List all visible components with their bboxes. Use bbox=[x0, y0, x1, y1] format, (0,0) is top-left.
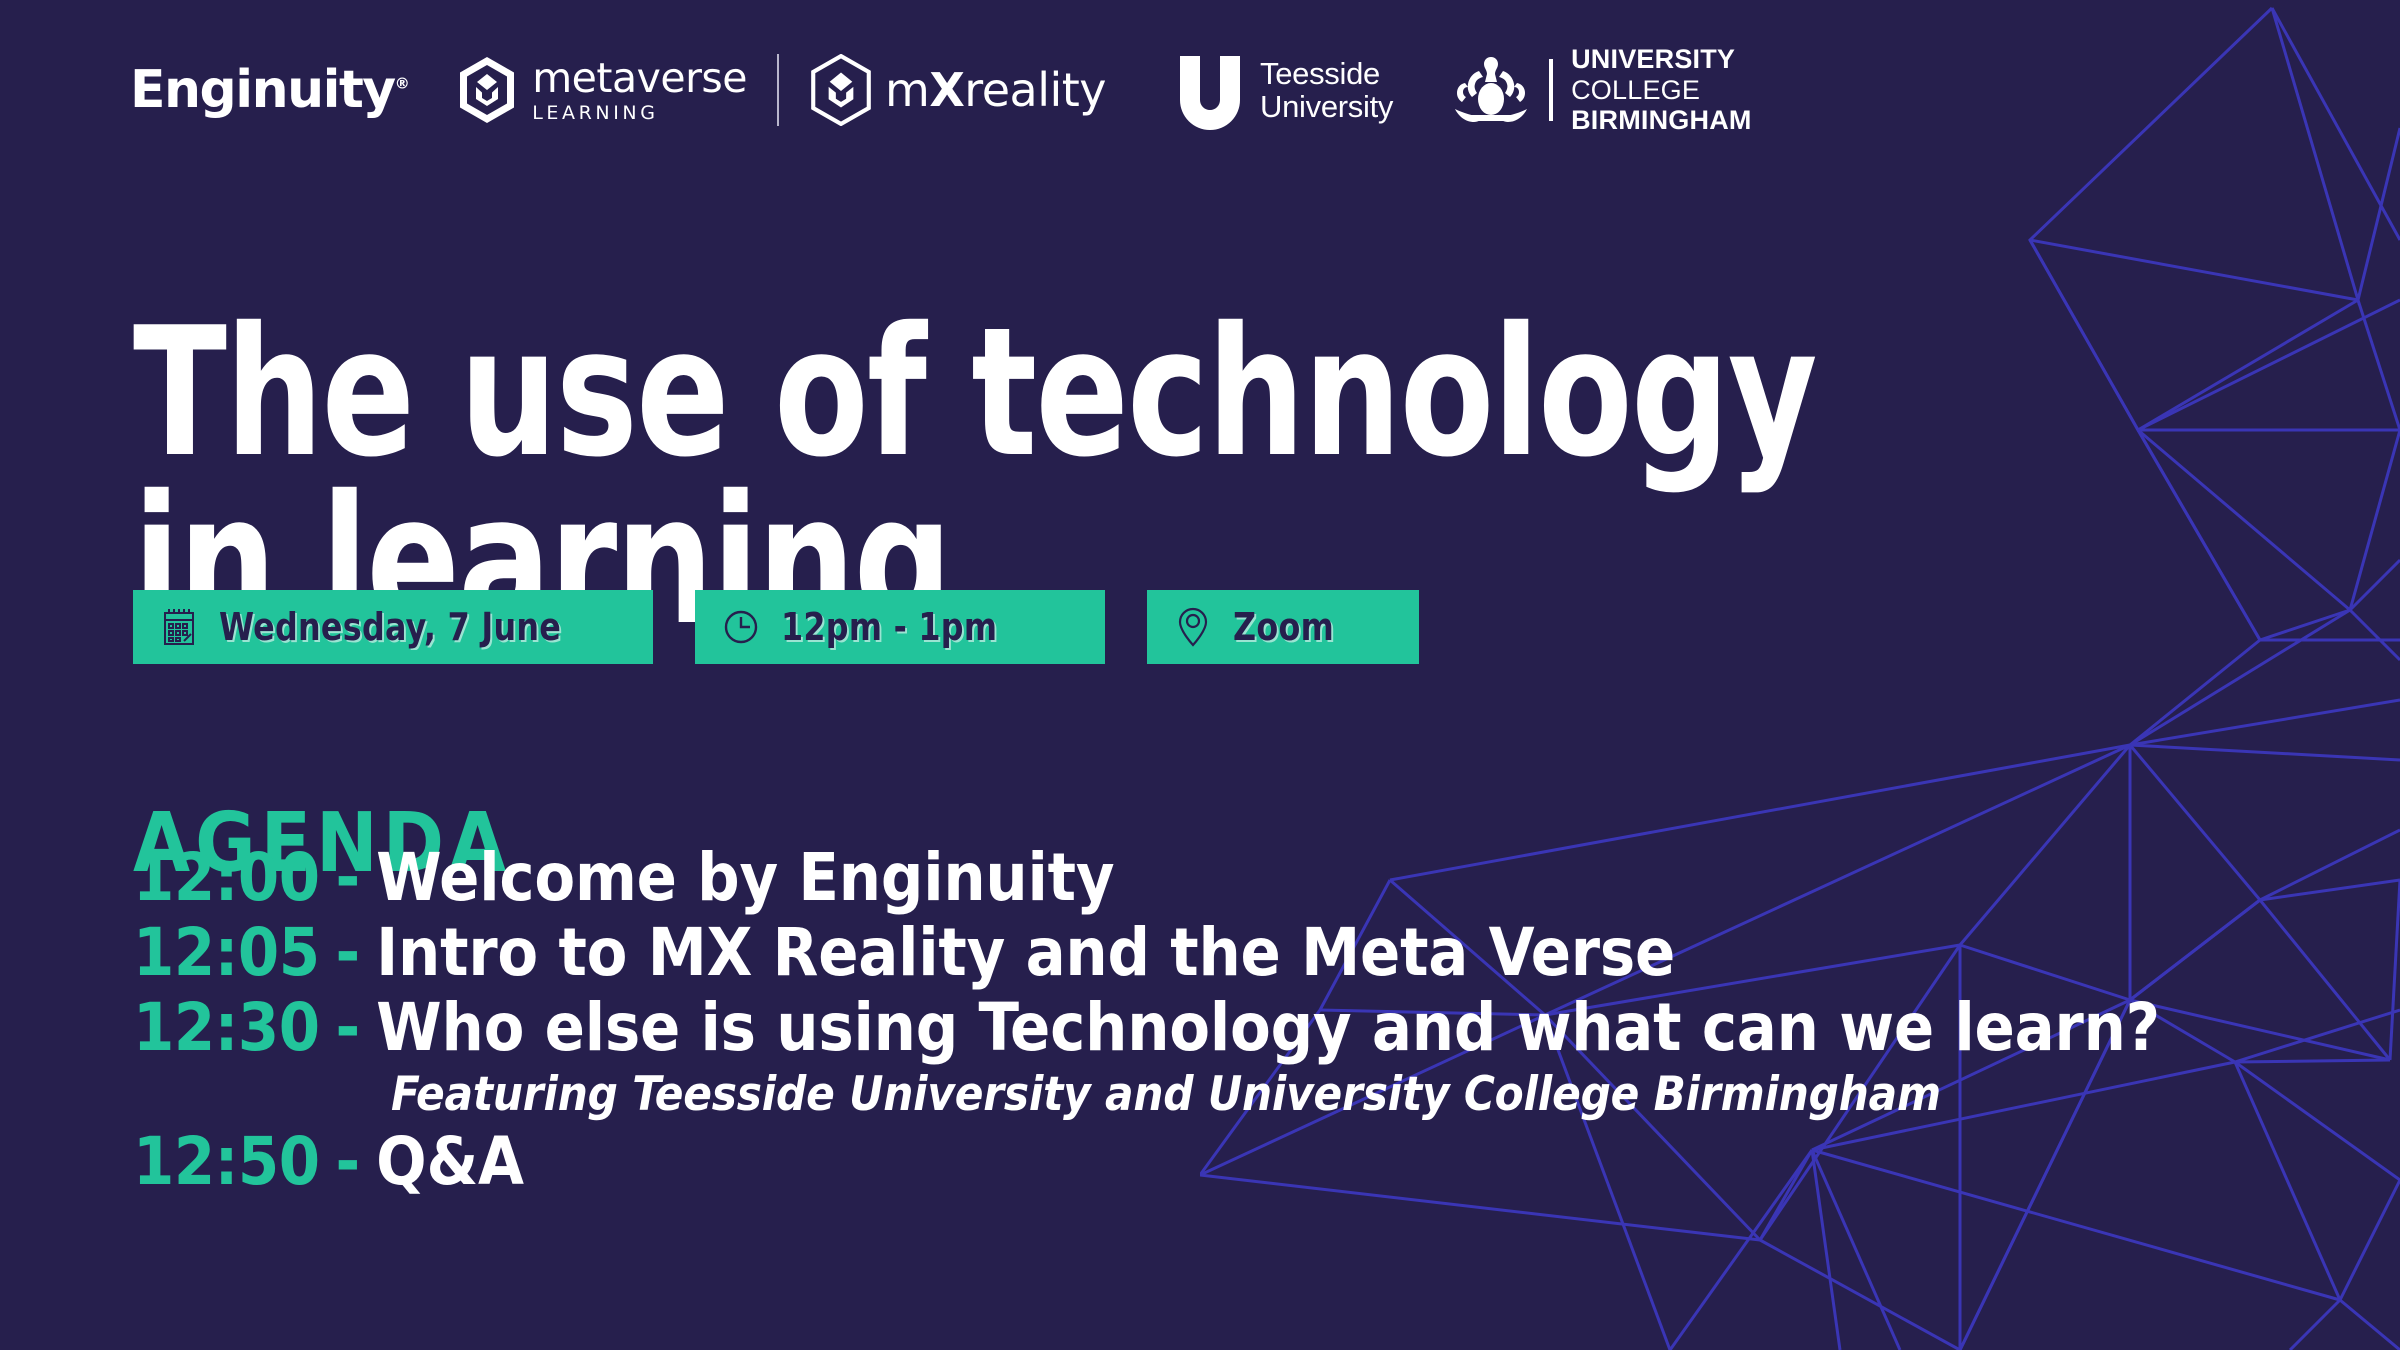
logo-divider bbox=[777, 54, 779, 126]
agenda-item-time: 12:00 bbox=[133, 840, 320, 915]
logo-metaverse-learning: metaverse LEARNING bbox=[456, 42, 747, 138]
agenda-item: 12:05 - Intro to MX Reality and the Meta… bbox=[133, 915, 2160, 990]
metaverse-wordmark: metaverse bbox=[532, 58, 747, 99]
badge-time-label: 12pm - 1pm bbox=[781, 605, 997, 649]
agenda-item-separator: - bbox=[336, 840, 361, 915]
metaverse-hex-icon bbox=[456, 55, 518, 125]
agenda-item: 12:50 - Q&A bbox=[133, 1124, 2160, 1199]
agenda-item-title: Intro to MX Reality and the Meta Verse bbox=[376, 915, 1675, 990]
mxreality-wordmark-b: reality bbox=[964, 63, 1106, 117]
ucb-line-3: BIRMINGHAM bbox=[1571, 105, 1751, 136]
teesside-wordmark: Teesside University bbox=[1260, 57, 1393, 124]
badge-location-label: Zoom bbox=[1233, 605, 1334, 649]
webinar-promo-poster: Enginuity® metaverse LEARNING mXrea bbox=[0, 0, 2400, 1350]
badge-date: Wednesday, 7 June bbox=[133, 590, 653, 664]
teesside-line-1: Teesside bbox=[1260, 57, 1393, 90]
agenda-item-title: Welcome by Enginuity bbox=[376, 840, 1114, 915]
badge-date-label: Wednesday, 7 June bbox=[219, 605, 561, 649]
location-pin-icon bbox=[1173, 604, 1213, 650]
event-detail-badges: Wednesday, 7 June 12pm - 1pm bbox=[133, 590, 1419, 664]
registered-mark-icon: ® bbox=[395, 75, 409, 93]
agenda-item-title: Q&A bbox=[376, 1124, 524, 1199]
ucb-line-1: UNIVERSITY bbox=[1571, 44, 1751, 75]
agenda-item-time: 12:05 bbox=[133, 915, 320, 990]
teesside-line-2: University bbox=[1260, 90, 1393, 123]
mxreality-wordmark-x: X bbox=[929, 63, 964, 117]
page-title-line-1: The use of technology bbox=[133, 309, 1698, 476]
clock-icon bbox=[721, 604, 761, 650]
badge-location: Zoom bbox=[1147, 590, 1419, 664]
logo-teesside-university: Teesside University bbox=[1174, 50, 1393, 130]
ucb-crest-icon bbox=[1447, 51, 1535, 129]
enginuity-wordmark-text: Enginuity bbox=[130, 60, 395, 120]
agenda-item-time: 12:50 bbox=[133, 1124, 320, 1199]
calendar-icon bbox=[159, 604, 199, 650]
agenda-item-time: 12:30 bbox=[133, 990, 320, 1065]
ucb-wordmark: UNIVERSITY COLLEGE BIRMINGHAM bbox=[1571, 44, 1751, 136]
logo-mxreality: mXreality bbox=[809, 42, 1106, 138]
agenda-item: 12:00 - Welcome by Enginuity bbox=[133, 840, 2160, 915]
agenda-item-separator: - bbox=[336, 990, 361, 1065]
logo-enginuity: Enginuity® bbox=[130, 42, 456, 138]
teesside-u-icon bbox=[1174, 50, 1246, 130]
agenda-item-separator: - bbox=[336, 915, 361, 990]
agenda-item-title: Who else is using Technology and what ca… bbox=[376, 990, 2160, 1065]
agenda-item-separator: - bbox=[336, 1124, 361, 1199]
ucb-line-2: COLLEGE bbox=[1571, 75, 1751, 106]
mxreality-wordmark-a: m bbox=[885, 63, 929, 117]
partner-logo-bar: Enginuity® metaverse LEARNING mXrea bbox=[130, 42, 1752, 138]
agenda-list: 12:00 - Welcome by Enginuity 12:05 - Int… bbox=[133, 840, 2160, 1200]
badge-time: 12pm - 1pm bbox=[695, 590, 1105, 664]
metaverse-subline: LEARNING bbox=[532, 104, 747, 123]
ucb-divider bbox=[1549, 59, 1553, 121]
enginuity-wordmark: Enginuity® bbox=[130, 64, 408, 116]
agenda-item-note: Featuring Teesside University and Univer… bbox=[391, 1066, 2160, 1125]
agenda-item: 12:30 - Who else is using Technology and… bbox=[133, 990, 2160, 1065]
mxreality-wordmark: mXreality bbox=[885, 67, 1106, 113]
logo-university-college-birmingham: UNIVERSITY COLLEGE BIRMINGHAM bbox=[1447, 44, 1751, 136]
mxreality-hex-icon bbox=[809, 54, 873, 126]
